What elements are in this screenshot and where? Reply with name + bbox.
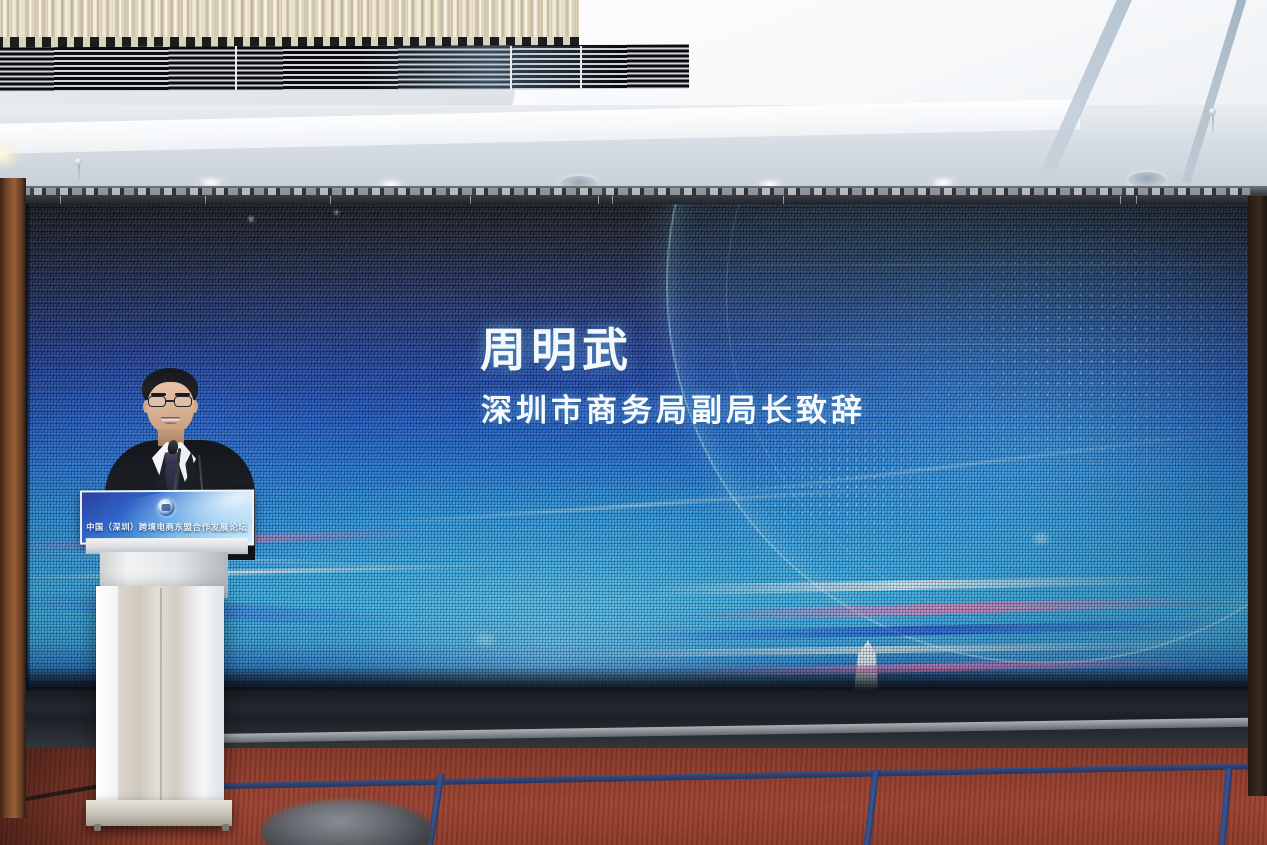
glasses-lens-right	[174, 396, 192, 407]
wood-wall-panel-left	[0, 178, 26, 818]
podium-foot-left	[94, 824, 101, 831]
screen-sparkle-3	[1032, 532, 1050, 545]
grille-divider-3	[580, 46, 582, 90]
podium-base	[86, 800, 232, 826]
screen-sparkle-1	[248, 216, 254, 222]
slide-title: 周明武	[480, 314, 633, 380]
speaker-face	[147, 382, 194, 434]
ceiling-hook-ball-1	[75, 158, 82, 165]
glasses-lens-left	[148, 396, 166, 407]
conference-hall-photo: 周明武 深圳市商务局副局长致辞	[0, 0, 1267, 845]
ceiling-hook-line-2	[1212, 112, 1214, 134]
podium-foot-right	[222, 824, 229, 831]
grille-divider-2	[510, 46, 512, 90]
wood-wall-panel-right	[1248, 196, 1267, 796]
podium-edge-right	[203, 586, 224, 818]
screen-sparkle-2	[334, 210, 339, 215]
screen-left-seam	[26, 204, 31, 700]
podium-center-seam	[160, 588, 162, 818]
ceiling-hook-ball-2	[1209, 108, 1216, 115]
ceiling	[0, 0, 1267, 200]
podium-edge-left	[96, 586, 118, 818]
screen-top-rail	[20, 188, 1250, 195]
glasses-bridge	[166, 400, 175, 402]
grille-divider-1	[235, 46, 237, 90]
screen-sparkle-4	[474, 632, 496, 647]
slide-subtitle: 深圳市商务局副局长致辞	[481, 385, 866, 430]
forum-emblem-icon	[157, 499, 174, 516]
speaker-glasses	[148, 396, 193, 408]
podium-sign-text: 中国（深圳）跨境电商东盟合作发展论坛	[82, 521, 252, 533]
